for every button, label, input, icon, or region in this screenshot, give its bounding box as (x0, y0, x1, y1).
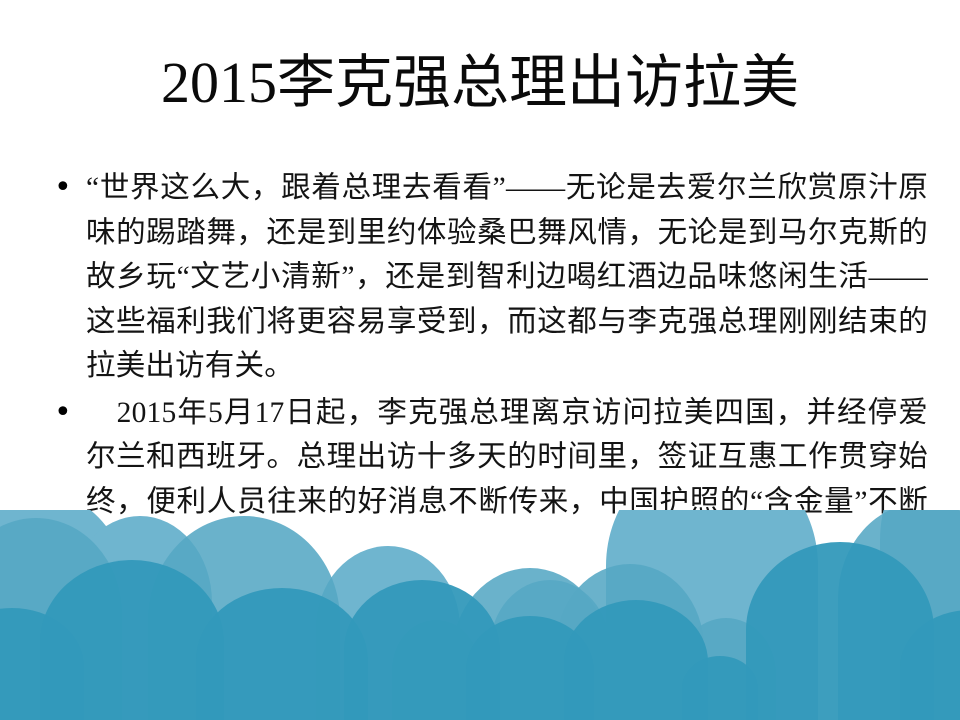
bullet-paragraph: “世界这么大，跟着总理去看看”——无论是去爱尔兰欣赏原汁原味的踢踏舞，还是到里约… (86, 166, 928, 389)
slide-canvas: 2015李克强总理出访拉美 • “世界这么大，跟着总理去看看”——无论是去爱尔兰… (0, 0, 960, 720)
bullet-marker-icon: • (44, 166, 86, 210)
page-title: 2015李克强总理出访拉美 (0, 48, 960, 118)
bullet-paragraph: 2015年5月17日起，李克强总理离京访问拉美四国，并经停爱尔兰和西班牙。总理出… (86, 391, 928, 569)
list-item: • 2015年5月17日起，李克强总理离京访问拉美四国，并经停爱尔兰和西班牙。总… (44, 391, 928, 569)
bullet-list: • “世界这么大，跟着总理去看看”——无论是去爱尔兰欣赏原汁原味的踢踏舞，还是到… (44, 166, 928, 571)
bullet-marker-icon: • (44, 391, 86, 435)
list-item: • “世界这么大，跟着总理去看看”——无论是去爱尔兰欣赏原汁原味的踢踏舞，还是到… (44, 166, 928, 389)
